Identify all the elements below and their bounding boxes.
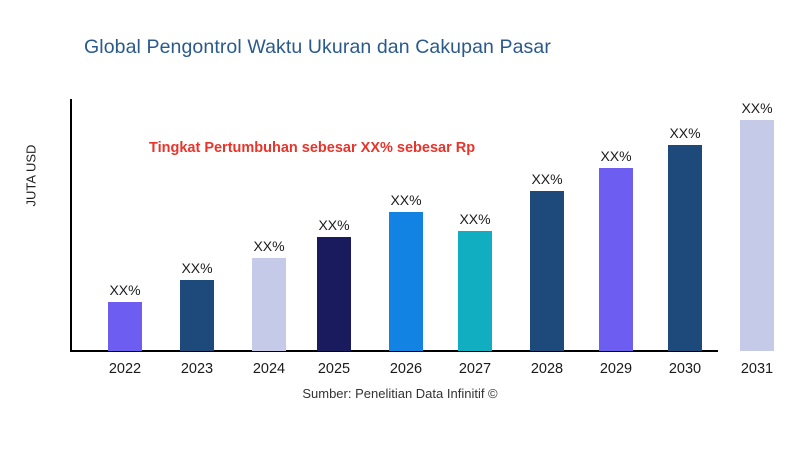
x-tick-label-2026: 2026 [390, 361, 422, 377]
bar-2031[interactable] [740, 120, 774, 351]
bar-value-label-2031: XX% [741, 100, 772, 116]
bar-group[interactable]: XX%2024 [252, 258, 286, 351]
x-tick-label-2029: 2029 [600, 361, 632, 377]
bar-value-label-2023: XX% [181, 260, 212, 276]
x-tick-label-2025: 2025 [318, 361, 350, 377]
bar-2029[interactable] [599, 168, 633, 351]
bar-value-label-2026: XX% [390, 192, 421, 208]
bar-2025[interactable] [317, 237, 351, 351]
bar-2023[interactable] [180, 280, 214, 351]
x-tick-label-2022: 2022 [109, 361, 141, 377]
bar-group[interactable]: XX%2025 [317, 237, 351, 351]
x-tick-label-2028: 2028 [531, 361, 563, 377]
bar-value-label-2022: XX% [109, 282, 140, 298]
bar-value-label-2024: XX% [253, 238, 284, 254]
bar-value-label-2025: XX% [318, 217, 349, 233]
bar-2026[interactable] [389, 212, 423, 351]
bar-2028[interactable] [530, 191, 564, 351]
bar-value-label-2028: XX% [531, 171, 562, 187]
bar-2024[interactable] [252, 258, 286, 351]
bar-group[interactable]: XX%2028 [530, 191, 564, 351]
bar-group[interactable]: XX%2023 [180, 280, 214, 351]
x-tick-label-2030: 2030 [669, 361, 701, 377]
bar-group[interactable]: XX%2022 [108, 302, 142, 351]
bar-value-label-2030: XX% [669, 125, 700, 141]
bar-value-label-2029: XX% [600, 148, 631, 164]
bar-chart-figure: Global Pengontrol Waktu Ukuran dan Cakup… [0, 0, 800, 450]
x-tick-label-2031: 2031 [741, 361, 773, 377]
bar-group[interactable]: XX%2029 [599, 168, 633, 351]
bar-group[interactable]: XX%2027 [458, 231, 492, 351]
bar-2022[interactable] [108, 302, 142, 351]
bar-group[interactable]: XX%2030 [668, 145, 702, 351]
plot-area: XX%2022XX%2023XX%2024XX%2025XX%2026XX%20… [0, 0, 800, 450]
bar-2027[interactable] [458, 231, 492, 351]
source-caption: Sumber: Penelitian Data Infinitif © [0, 386, 800, 401]
bar-group[interactable]: XX%2031 [740, 120, 774, 351]
bar-2030[interactable] [668, 145, 702, 351]
x-tick-label-2023: 2023 [181, 361, 213, 377]
x-tick-label-2024: 2024 [253, 361, 285, 377]
bar-value-label-2027: XX% [459, 211, 490, 227]
x-tick-label-2027: 2027 [459, 361, 491, 377]
bar-group[interactable]: XX%2026 [389, 212, 423, 351]
